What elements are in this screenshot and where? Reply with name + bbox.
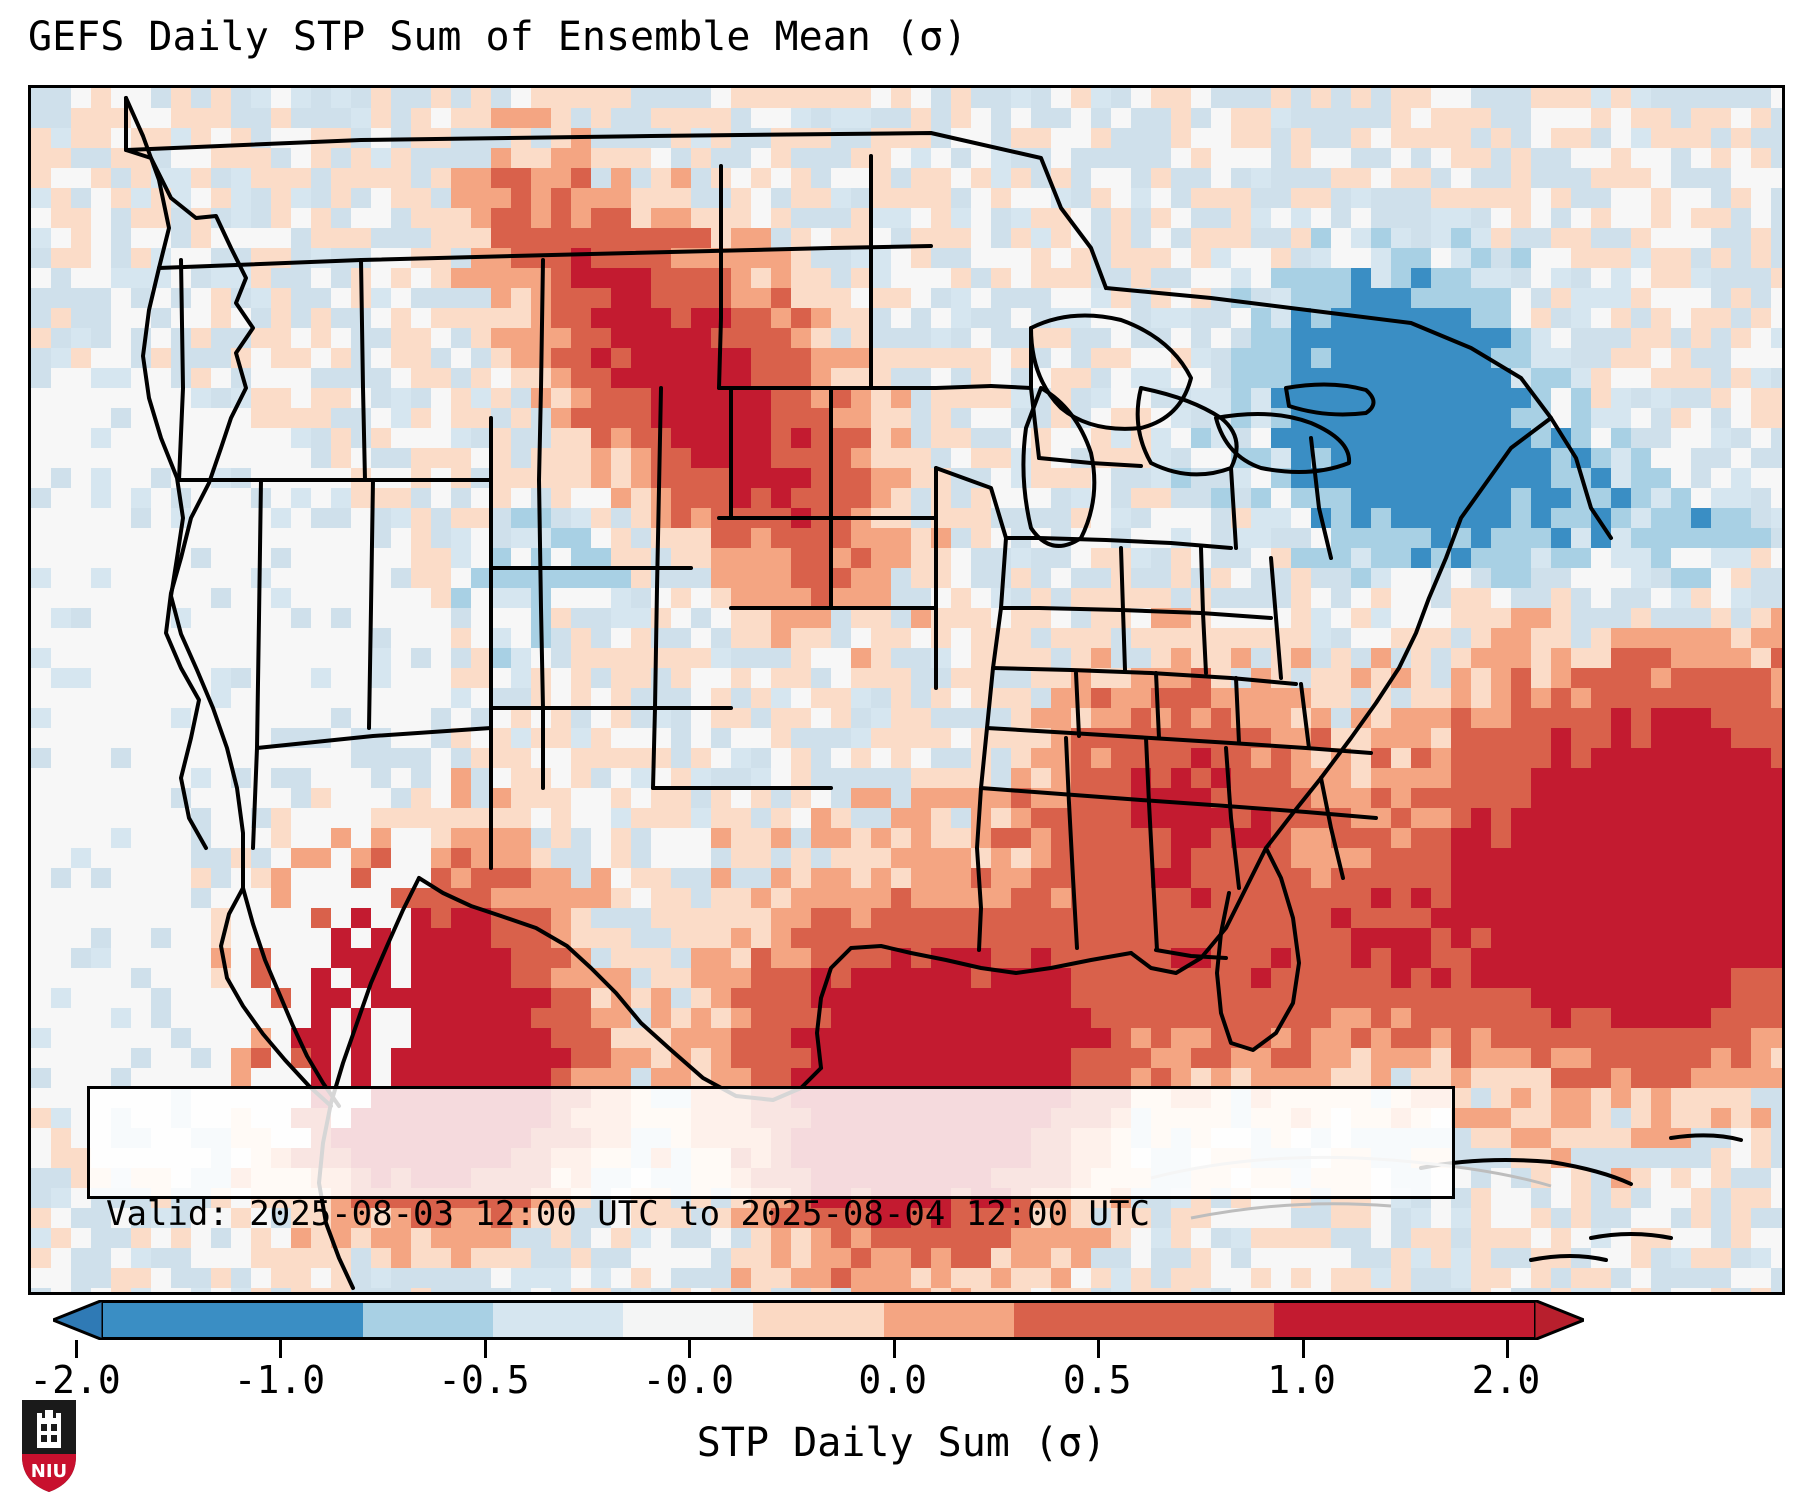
colorbar-segment-2 [493,1303,623,1337]
colorbar-tick-1.0 [1302,1340,1305,1358]
colorbar-ticklabel--1.0: -1.0 [234,1358,326,1402]
colorbar-tick-2.0 [1506,1340,1509,1358]
colorbar-segments [103,1300,1534,1340]
niu-logo: NIU [18,1398,80,1494]
colorbar-ticklabel-0.0: 0.0 [858,1358,927,1402]
colorbar-tick--0.0 [688,1340,691,1358]
colorbar-segment-0 [103,1303,363,1337]
colorbar-segment-5 [884,1303,1014,1337]
colorbar-ticklabel-0.5: 0.5 [1063,1358,1132,1402]
colorbar-tickmarks [28,1340,1785,1360]
colorbar-under-arrow [53,1300,103,1340]
colorbar-axis-label: STP Daily Sum (σ) [0,1420,1803,1466]
colorbar-ticklabels: -2.0-1.0-0.5-0.00.00.51.02.0 [28,1358,1785,1406]
niu-shield-icon: NIU [18,1398,80,1494]
page-title: GEFS Daily STP Sum of Ensemble Mean (σ) [28,14,967,60]
colorbar-ticklabel-1.0: 1.0 [1267,1358,1336,1402]
colorbar-ticklabel--0.5: -0.5 [438,1358,530,1402]
colorbar-segment-4 [753,1303,883,1337]
colorbar-ticklabel--2.0: -2.0 [29,1358,121,1402]
niu-logo-text: NIU [31,1461,67,1482]
colorbar-segment-1 [363,1303,493,1337]
colorbar-segment-7 [1274,1303,1534,1337]
colorbar-tick--2.0 [75,1340,78,1358]
map-panel: Valid: 2025-08-03 12:00 UTC to 2025-08-0… [28,85,1785,1295]
colorbar-ticklabel-2.0: 2.0 [1472,1358,1541,1402]
colorbar-ticklabel--0.0: -0.0 [643,1358,735,1402]
colorbar-tick-0.5 [1097,1340,1100,1358]
colorbar-segment-3 [623,1303,753,1337]
valid-time-line: Valid: 2025-08-03 12:00 UTC to 2025-08-0… [106,1191,1436,1237]
colorbar [28,1300,1785,1340]
valid-run-infobox: Valid: 2025-08-03 12:00 UTC to 2025-08-0… [87,1086,1455,1199]
colorbar-segment-6 [1014,1303,1274,1337]
colorbar-tick-0.0 [893,1340,896,1358]
colorbar-over-arrow [1534,1300,1584,1340]
colorbar-tick--0.5 [484,1340,487,1358]
colorbar-tick--1.0 [279,1340,282,1358]
figure-root: GEFS Daily STP Sum of Ensemble Mean (σ) [0,0,1803,1506]
